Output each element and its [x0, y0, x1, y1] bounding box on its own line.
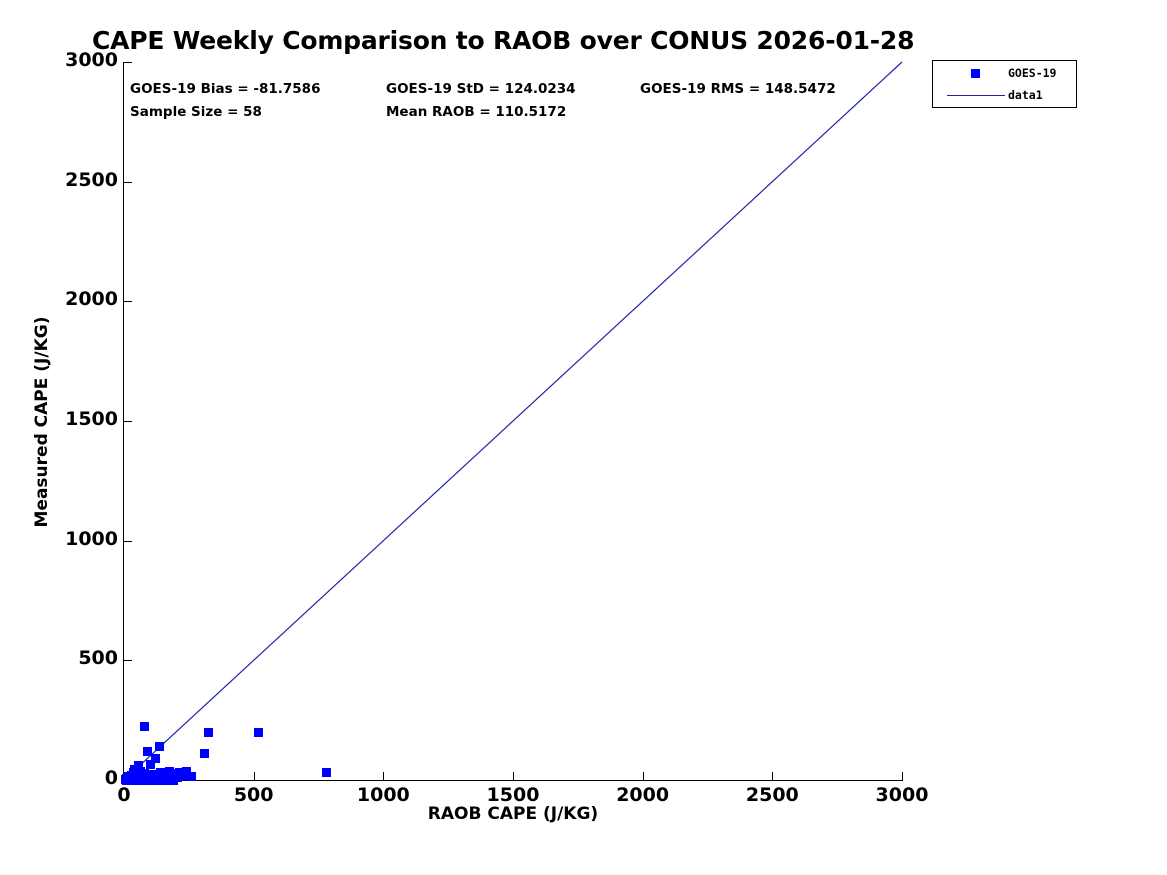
x-axis-spine	[123, 780, 903, 781]
x-tick-label-2500: 2500	[712, 784, 832, 806]
scatter-point	[140, 722, 149, 731]
scatter-point	[322, 768, 331, 777]
y-tick-label-500: 500	[0, 647, 118, 669]
scatter-point	[200, 749, 209, 758]
scatter-point	[151, 754, 160, 763]
chart-figure: CAPE Weekly Comparison to RAOB over CONU…	[0, 0, 1167, 875]
y-tick-label-3000: 3000	[0, 49, 118, 71]
x-tick-label-1500: 1500	[453, 784, 573, 806]
y-tick-label-2000: 2000	[0, 288, 118, 310]
legend-line-marker-icon	[947, 95, 1005, 96]
scatter-point	[155, 742, 164, 751]
legend-square-marker-icon	[971, 69, 980, 78]
page-title: CAPE Weekly Comparison to RAOB over CONU…	[92, 26, 932, 55]
legend-label-data1: data1	[1008, 88, 1043, 102]
x-axis-label: RAOB CAPE (J/KG)	[124, 804, 902, 824]
plot-area	[124, 62, 902, 780]
x-tick-label-1000: 1000	[323, 784, 443, 806]
y-tick-label-0: 0	[0, 767, 118, 789]
scatter-point	[254, 728, 263, 737]
scatter-point	[187, 772, 196, 781]
legend-item-goes19[interactable]: GOES-19	[933, 62, 1076, 85]
x-tick-label-500: 500	[194, 784, 314, 806]
scatter-points-layer	[124, 62, 902, 780]
x-tick-label-3000: 3000	[842, 784, 962, 806]
x-tick-3000	[902, 772, 903, 780]
scatter-point	[204, 728, 213, 737]
x-tick-label-2000: 2000	[583, 784, 703, 806]
y-tick-label-1500: 1500	[0, 408, 118, 430]
y-axis-label: Measured CAPE (J/KG)	[32, 162, 52, 682]
legend: GOES-19 data1	[932, 60, 1077, 108]
legend-item-data1[interactable]: data1	[933, 84, 1076, 107]
y-tick-label-1000: 1000	[0, 528, 118, 550]
y-tick-label-2500: 2500	[0, 169, 118, 191]
legend-label-goes19: GOES-19	[1008, 66, 1056, 80]
